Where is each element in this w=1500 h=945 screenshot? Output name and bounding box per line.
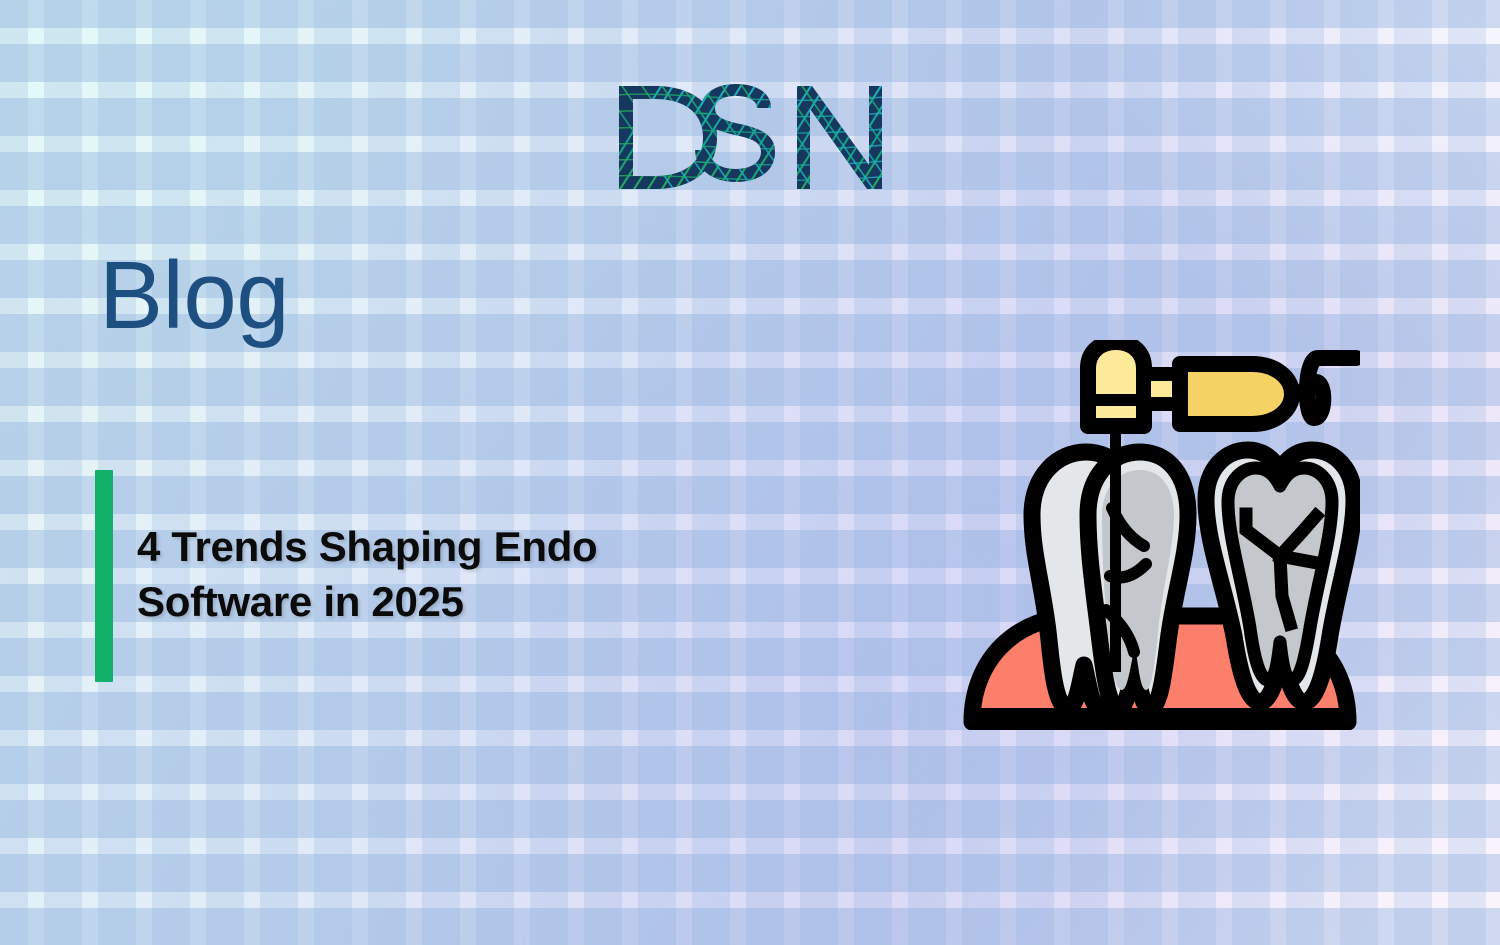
drill-head (1088, 342, 1144, 426)
blog-banner: Blog 4 Trends Shaping Endo Software in 2… (0, 0, 1500, 945)
dsn-logo[interactable] (611, 80, 901, 195)
article-headline: 4 Trends Shaping Endo Software in 2025 (137, 520, 857, 629)
page-title: Blog (99, 243, 289, 349)
endodontics-illustration (960, 340, 1360, 730)
accent-bar (95, 470, 113, 682)
dental-drill (1086, 342, 1356, 426)
logo-letter-n (797, 86, 882, 189)
drill-cable (1294, 358, 1356, 418)
drill-body (1180, 364, 1292, 424)
drill-bit-shaft (1110, 432, 1121, 672)
headline-line-1: 4 Trends Shaping Endo (137, 520, 857, 575)
headline-line-2: Software in 2025 (137, 575, 857, 630)
logo-letter-d (619, 86, 717, 189)
